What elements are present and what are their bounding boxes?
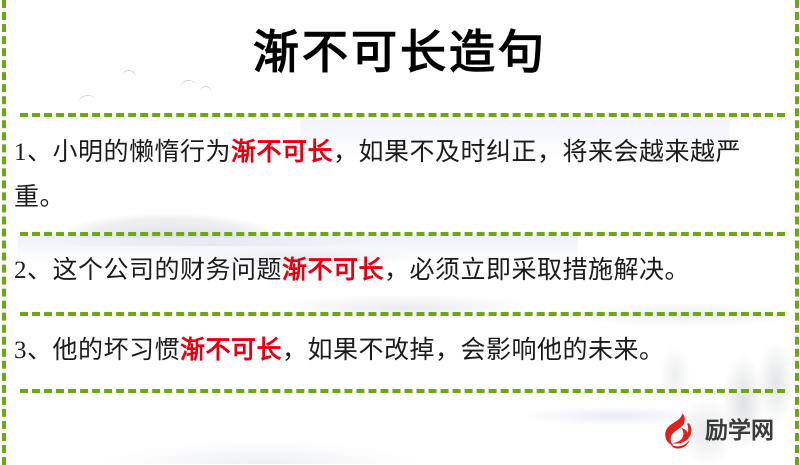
idiom-highlight: 渐不可长 — [231, 139, 333, 166]
divider-4 — [20, 389, 785, 393]
bird-silhouette-icon — [199, 85, 212, 96]
sentence-text-before: 他的坏习惯 — [53, 337, 181, 364]
sentence-index: 1、 — [14, 139, 53, 166]
divider-3 — [20, 312, 785, 316]
sentence-text-before: 这个公司的财务问题 — [53, 257, 283, 284]
sentence-item: 1、小明的懒惰行为渐不可长，如果不及时纠正，将来会越来越严重。 — [14, 130, 786, 220]
page-title: 渐不可长造句 — [0, 22, 800, 82]
idiom-highlight: 渐不可长 — [180, 337, 282, 364]
sentence-item: 2、这个公司的财务问题渐不可长，必须立即采取措施解决。 — [14, 248, 786, 293]
divider-2 — [20, 232, 785, 236]
sentence-text-after: ，如果不改掉，会影响他的未来。 — [282, 337, 665, 364]
ink-wash-cloud-b — [240, 288, 600, 328]
bird-silhouette-icon — [77, 94, 96, 105]
sentence-index: 2、 — [14, 257, 53, 284]
divider-1 — [20, 113, 785, 117]
idiom-highlight: 渐不可长 — [282, 257, 384, 284]
flame-swirl-icon — [660, 412, 698, 450]
ink-wash-bottom-hill — [60, 404, 480, 464]
sentence-index: 3、 — [14, 337, 53, 364]
brand-watermark: 励学网 — [660, 412, 774, 450]
sentence-text-after: ，必须立即采取措施解决。 — [384, 257, 690, 284]
worksheet-page: 渐不可长造句 1、小明的懒惰行为渐不可长，如果不及时纠正，将来会越来越严重。 2… — [0, 0, 800, 465]
sentence-text-before: 小明的懒惰行为 — [53, 139, 232, 166]
brand-name: 励学网 — [705, 412, 774, 450]
sentence-item: 3、他的坏习惯渐不可长，如果不改掉，会影响他的未来。 — [14, 328, 786, 373]
